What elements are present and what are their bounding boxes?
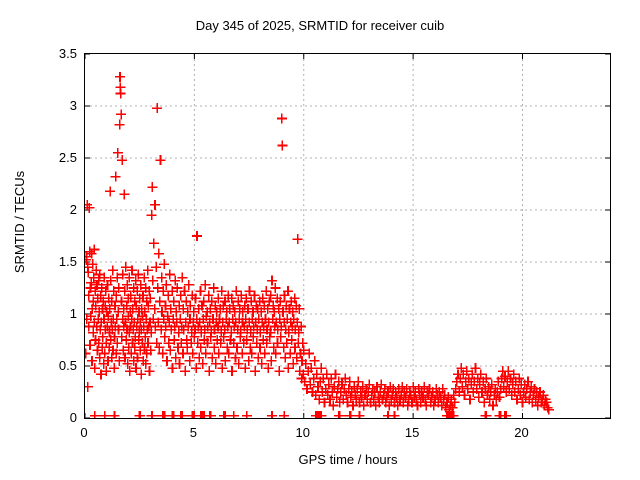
x-tick-label: 10 [283,426,323,439]
x-tick-label: 20 [502,426,542,439]
y-tick-label: 1.5 [31,255,77,268]
x-tick-label: 0 [64,426,104,439]
axis-tick-marks [85,54,610,418]
y-axis-label: SRMTID / TECUs [13,122,27,322]
x-axis-label: GPS time / hours [84,452,612,467]
y-tick-label: 0 [31,411,77,424]
chart-figure: Day 345 of 2025, SRMTID for receiver cui… [0,0,640,480]
gridlines [85,54,610,418]
scatter-plot-svg [85,54,610,418]
y-tick-label: 1 [31,307,77,320]
x-tick-label: 5 [173,426,213,439]
y-tick-label: 2.5 [31,151,77,164]
y-tick-label: 3 [31,99,77,112]
y-tick-label: 0.5 [31,359,77,372]
chart-title: Day 345 of 2025, SRMTID for receiver cui… [0,18,640,34]
plot-area [84,53,611,419]
y-tick-label: 3.5 [31,47,77,60]
x-tick-label: 15 [392,426,432,439]
y-tick-label: 2 [31,203,77,216]
